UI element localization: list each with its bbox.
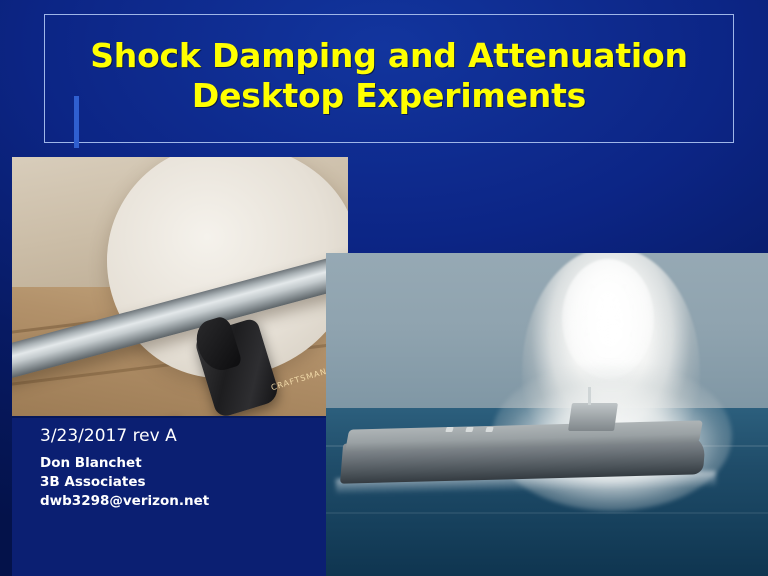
photo-carrier-island [568, 403, 618, 431]
hammer-and-pipe-photo: CRAFTSMAN BLUE VIBE 1 C [12, 157, 348, 416]
photo-deck-aircraft [485, 427, 493, 432]
presentation-slide: Shock Damping and Attenuation Desktop Ex… [0, 0, 768, 576]
page-title: Shock Damping and Attenuation Desktop Ex… [54, 36, 724, 116]
aircraft-carrier-shock-trial-photo [326, 253, 768, 576]
date-text: 3/23/2017 rev A [40, 426, 177, 446]
author-name: Don Blanchet [40, 454, 209, 473]
author-info-lines: Don Blanchet 3B Associates dwb3298@veriz… [40, 454, 209, 511]
photo-carrier-mast [588, 387, 591, 405]
photo-deck-aircraft [465, 427, 473, 432]
author-email: dwb3298@verizon.net [40, 492, 209, 511]
photo-deck-aircraft [445, 427, 453, 432]
author-info-panel: 3/23/2017 rev A Don Blanchet 3B Associat… [12, 418, 326, 576]
title-line-1: Shock Damping and Attenuation [54, 36, 724, 76]
organization-name: 3B Associates [40, 473, 209, 492]
title-line-2: Desktop Experiments [54, 76, 724, 116]
